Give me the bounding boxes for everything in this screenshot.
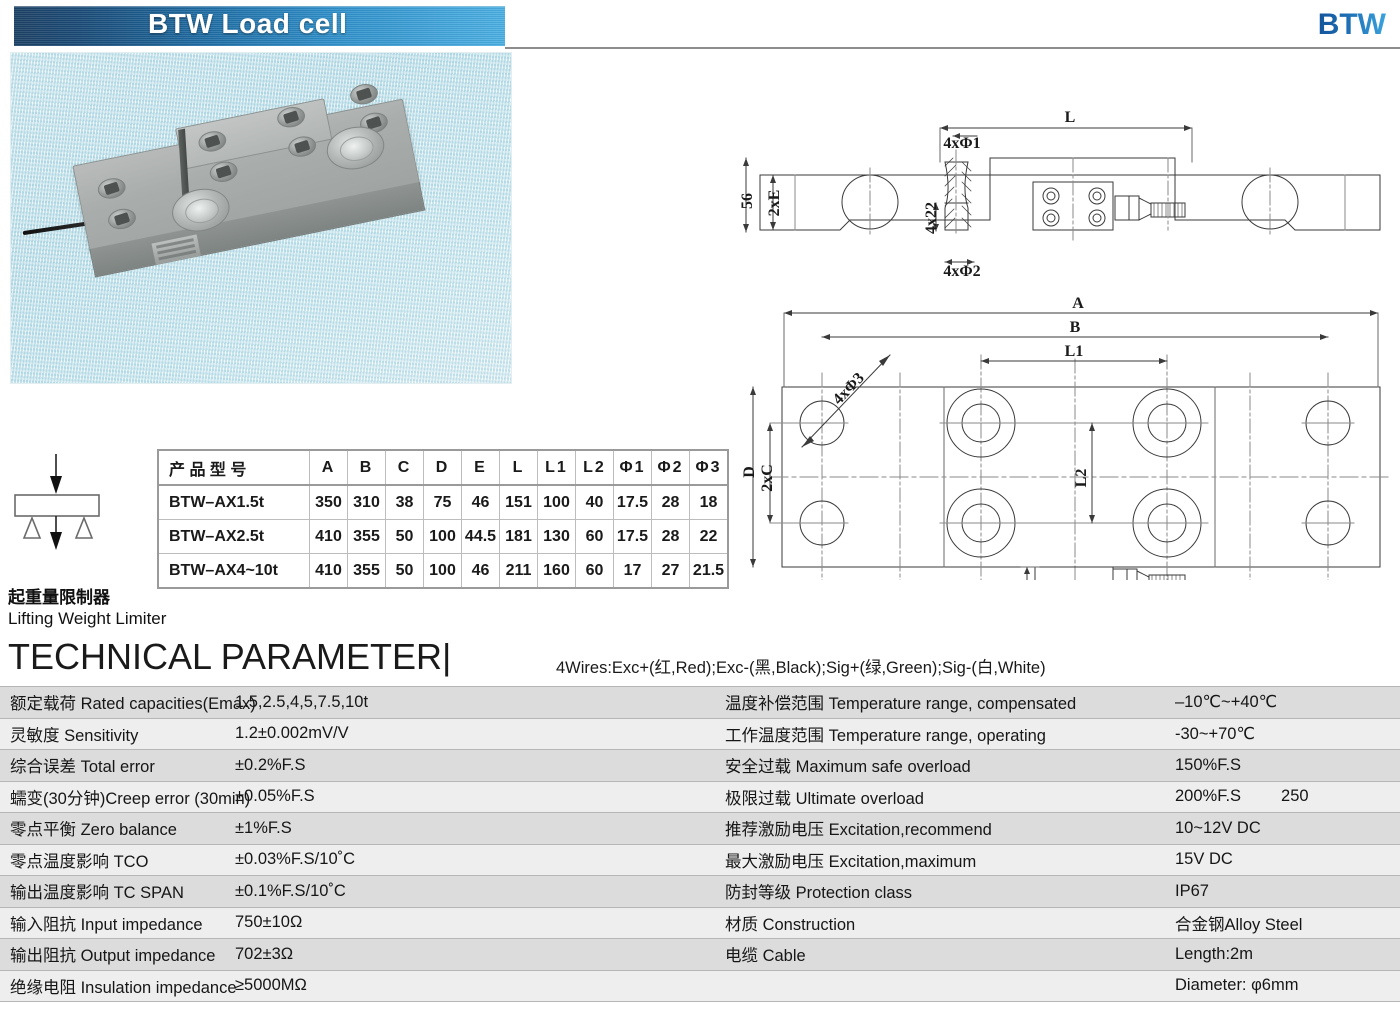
cell-A: 350	[310, 485, 348, 520]
spec-value-excitation-maximum: 15V DC	[1165, 844, 1400, 876]
spec-value-tc-span: ±0.1%F.S/10˚C	[225, 876, 715, 908]
cell-phi3: 21.5	[690, 554, 729, 589]
cell-L2: 40	[576, 485, 614, 520]
col-header-B: B	[348, 450, 386, 485]
cell-E: 44.5	[462, 520, 500, 554]
col-header-phi1: Φ1	[614, 450, 652, 485]
brand-logo: BTW	[1318, 8, 1386, 42]
spec-value-input-impedance: 750±10Ω	[225, 907, 715, 939]
cell-phi3: 18	[690, 485, 729, 520]
dim-label-4xPhi1: 4xΦ1	[943, 135, 980, 152]
side-elevation-view	[743, 125, 1380, 265]
spec-label-empty	[715, 970, 1165, 1002]
dimension-table-header-row: 产 品 型 号 A B C D E L L1 L2 Φ1 Φ2 Φ3	[158, 450, 728, 485]
cell-B: 355	[348, 520, 386, 554]
technical-parameter-title: TECHNICAL PARAMETER|	[8, 636, 451, 678]
table-row: BTW–AX4~10t 410 355 50 100 46 211 160 60…	[158, 554, 728, 589]
cell-C: 50	[386, 520, 424, 554]
spec-label-sensitivity: 灵敏度 Sensitivity	[0, 718, 225, 750]
cell-L2: 60	[576, 554, 614, 589]
cell-D: 100	[424, 520, 462, 554]
dim-label-4x22: 4x22	[923, 202, 940, 234]
spec-value-zero-balance: ±1%F.S	[225, 813, 715, 845]
page-title: BTW Load cell	[148, 8, 347, 40]
spec-label-safe-overload: 安全过载 Maximum safe overload	[715, 750, 1165, 782]
cell-L: 151	[500, 485, 538, 520]
spec-value-rated-capacities: 1.5,2.5,4,5,7.5,10t	[225, 687, 715, 719]
spec-value-ultimate-overload-extra: 250	[1281, 787, 1309, 806]
cell-B: 310	[348, 485, 386, 520]
spec-value-output-impedance: 702±3Ω	[225, 939, 715, 971]
cell-L: 211	[500, 554, 538, 589]
spec-label-protection-class: 防封等级 Protection class	[715, 876, 1165, 908]
page-header: BTW Load cell BTW	[0, 0, 1400, 52]
spec-value-insulation-impedance: ≥5000MΩ	[225, 970, 715, 1002]
subtitle-en: Lifting Weight Limiter	[8, 608, 166, 629]
header-divider-rule	[505, 47, 1400, 49]
col-header-C: C	[386, 450, 424, 485]
dim-label-2xE: 2xE	[766, 190, 783, 217]
spec-value-cable-diameter: Diameter: φ6mm	[1165, 970, 1400, 1002]
spec-label-excitation-recommend: 推荐激励电压 Excitation,recommend	[715, 813, 1165, 845]
spec-label-temp-operating: 工作温度范围 Temperature range, operating	[715, 718, 1165, 750]
dim-label-56: 56	[740, 193, 756, 209]
spec-value-protection-class: IP67	[1165, 876, 1400, 908]
cell-L1: 160	[538, 554, 576, 589]
spec-value-total-error: ±0.2%F.S	[225, 750, 715, 782]
technical-drawings: 56 2xE 4xΦ1 4x22 4xΦ2 L A B L1 L2 D 2xC …	[740, 100, 1400, 580]
dim-label-L1: L1	[1065, 343, 1084, 360]
col-header-model: 产 品 型 号	[158, 450, 310, 485]
table-row: BTW–AX2.5t 410 355 50 100 44.5 181 130 6…	[158, 520, 728, 554]
spec-label-tc-span: 输出温度影响 TC SPAN	[0, 876, 225, 908]
table-row: 输出温度影响 TC SPAN ±0.1%F.S/10˚C 防封等级 Protec…	[0, 876, 1400, 908]
spec-label-tco: 零点温度影响 TCO	[0, 844, 225, 876]
table-row: 输入阻抗 Input impedance 750±10Ω 材质 Construc…	[0, 907, 1400, 939]
cell-phi2: 27	[652, 554, 690, 589]
cell-E: 46	[462, 554, 500, 589]
cell-L2: 60	[576, 520, 614, 554]
spec-label-ultimate-overload: 极限过载 Ultimate overload	[715, 781, 1165, 813]
cell-A: 410	[310, 554, 348, 589]
load-direction-diagram	[8, 448, 148, 566]
cell-D: 100	[424, 554, 462, 589]
col-header-L: L	[500, 450, 538, 485]
cell-phi1: 17	[614, 554, 652, 589]
spec-label-construction: 材质 Construction	[715, 907, 1165, 939]
spec-label-rated-capacities: 额定载荷 Rated capacities(Emax)	[0, 687, 225, 719]
cell-L: 181	[500, 520, 538, 554]
table-row: 蠕变(30分钟)Creep error (30min) ±0.05%F.S 极限…	[0, 781, 1400, 813]
col-header-A: A	[310, 450, 348, 485]
cell-model: BTW–AX4~10t	[158, 554, 310, 589]
col-header-phi2: Φ2	[652, 450, 690, 485]
spec-value-creep-error: ±0.05%F.S	[225, 781, 715, 813]
spec-label-cable: 电缆 Cable	[715, 939, 1165, 971]
spec-value-sensitivity: 1.2±0.002mV/V	[225, 718, 715, 750]
col-header-phi3: Φ3	[690, 450, 729, 485]
col-header-L2: L2	[576, 450, 614, 485]
table-row: 输出阻抗 Output impedance 702±3Ω 电缆 Cable Le…	[0, 939, 1400, 971]
cell-L1: 130	[538, 520, 576, 554]
load-cell-illustration	[72, 99, 428, 303]
spec-label-temp-compensated: 温度补偿范围 Temperature range, compensated	[715, 687, 1165, 719]
specification-table: 额定载荷 Rated capacities(Emax) 1.5,2.5,4,5,…	[0, 686, 1400, 1002]
cell-C: 50	[386, 554, 424, 589]
spec-value-cable-length: Length:2m	[1165, 939, 1400, 971]
cell-D: 75	[424, 485, 462, 520]
spec-label-insulation-impedance: 绝缘电阻 Insulation impedance	[0, 970, 225, 1002]
spec-value-ultimate-overload: 200%F.S250	[1165, 781, 1400, 813]
spec-value-temp-compensated: –10℃~+40℃	[1165, 687, 1400, 719]
dim-label-L: L	[1065, 109, 1076, 126]
cell-L1: 100	[538, 485, 576, 520]
cell-phi1: 17.5	[614, 520, 652, 554]
cell-model: BTW–AX2.5t	[158, 520, 310, 554]
spec-label-input-impedance: 输入阻抗 Input impedance	[0, 907, 225, 939]
dim-label-2xC: 2xC	[759, 464, 776, 492]
spec-value-excitation-recommend: 10~12V DC	[1165, 813, 1400, 845]
dim-label-B: B	[1070, 319, 1081, 336]
dim-label-L2: L2	[1073, 469, 1090, 488]
col-header-D: D	[424, 450, 462, 485]
cell-phi1: 17.5	[614, 485, 652, 520]
cell-phi2: 28	[652, 520, 690, 554]
spec-value-ultimate-overload-main: 200%F.S	[1175, 787, 1241, 805]
dim-label-4xPhi3: 4xΦ3	[830, 370, 868, 409]
dimension-table: 产 品 型 号 A B C D E L L1 L2 Φ1 Φ2 Φ3 BTW–A…	[157, 449, 729, 589]
table-row: 额定载荷 Rated capacities(Emax) 1.5,2.5,4,5,…	[0, 687, 1400, 719]
table-row: BTW–AX1.5t 350 310 38 75 46 151 100 40 1…	[158, 485, 728, 520]
cell-phi3: 22	[690, 520, 729, 554]
cable-illustration	[23, 221, 93, 235]
col-header-E: E	[462, 450, 500, 485]
spec-label-creep-error: 蠕变(30分钟)Creep error (30min)	[0, 781, 225, 813]
spec-label-excitation-maximum: 最大激励电压 Excitation,maximum	[715, 844, 1165, 876]
spec-label-output-impedance: 输出阻抗 Output impedance	[0, 939, 225, 971]
bolt-icon	[348, 82, 379, 107]
table-row: 综合误差 Total error ±0.2%F.S 安全过载 Maximum s…	[0, 750, 1400, 782]
product-photo	[10, 52, 512, 384]
cell-C: 38	[386, 485, 424, 520]
cell-E: 46	[462, 485, 500, 520]
cell-A: 410	[310, 520, 348, 554]
dim-label-A: A	[1072, 295, 1084, 312]
col-header-L1: L1	[538, 450, 576, 485]
table-row: 绝缘电阻 Insulation impedance ≥5000MΩ Diamet…	[0, 970, 1400, 1002]
table-row: 灵敏度 Sensitivity 1.2±0.002mV/V 工作温度范围 Tem…	[0, 718, 1400, 750]
table-row: 零点温度影响 TCO ±0.03%F.S/10˚C 最大激励电压 Excitat…	[0, 844, 1400, 876]
spec-value-safe-overload: 150%F.S	[1165, 750, 1400, 782]
wire-color-note: 4Wires:Exc+(红,Red);Exc-(黑,Black);Sig+(绿,…	[556, 654, 1046, 678]
spec-label-total-error: 综合误差 Total error	[0, 750, 225, 782]
cell-B: 355	[348, 554, 386, 589]
spec-value-temp-operating: -30~+70℃	[1165, 718, 1400, 750]
spec-value-construction: 合金钢Alloy Steel	[1165, 907, 1400, 939]
table-row: 零点平衡 Zero balance ±1%F.S 推荐激励电压 Excitati…	[0, 813, 1400, 845]
cell-model: BTW–AX1.5t	[158, 485, 310, 520]
technical-parameter-header: TECHNICAL PARAMETER| 4Wires:Exc+(红,Red);…	[8, 636, 1398, 678]
dim-label-4xPhi2: 4xΦ2	[943, 263, 980, 280]
section-subtitle: 起重量限制器 Lifting Weight Limiter	[8, 588, 166, 629]
dim-label-D: D	[741, 466, 758, 478]
spec-value-tco: ±0.03%F.S/10˚C	[225, 844, 715, 876]
spec-label-zero-balance: 零点平衡 Zero balance	[0, 813, 225, 845]
cell-phi2: 28	[652, 485, 690, 520]
subtitle-cn: 起重量限制器	[8, 588, 166, 608]
